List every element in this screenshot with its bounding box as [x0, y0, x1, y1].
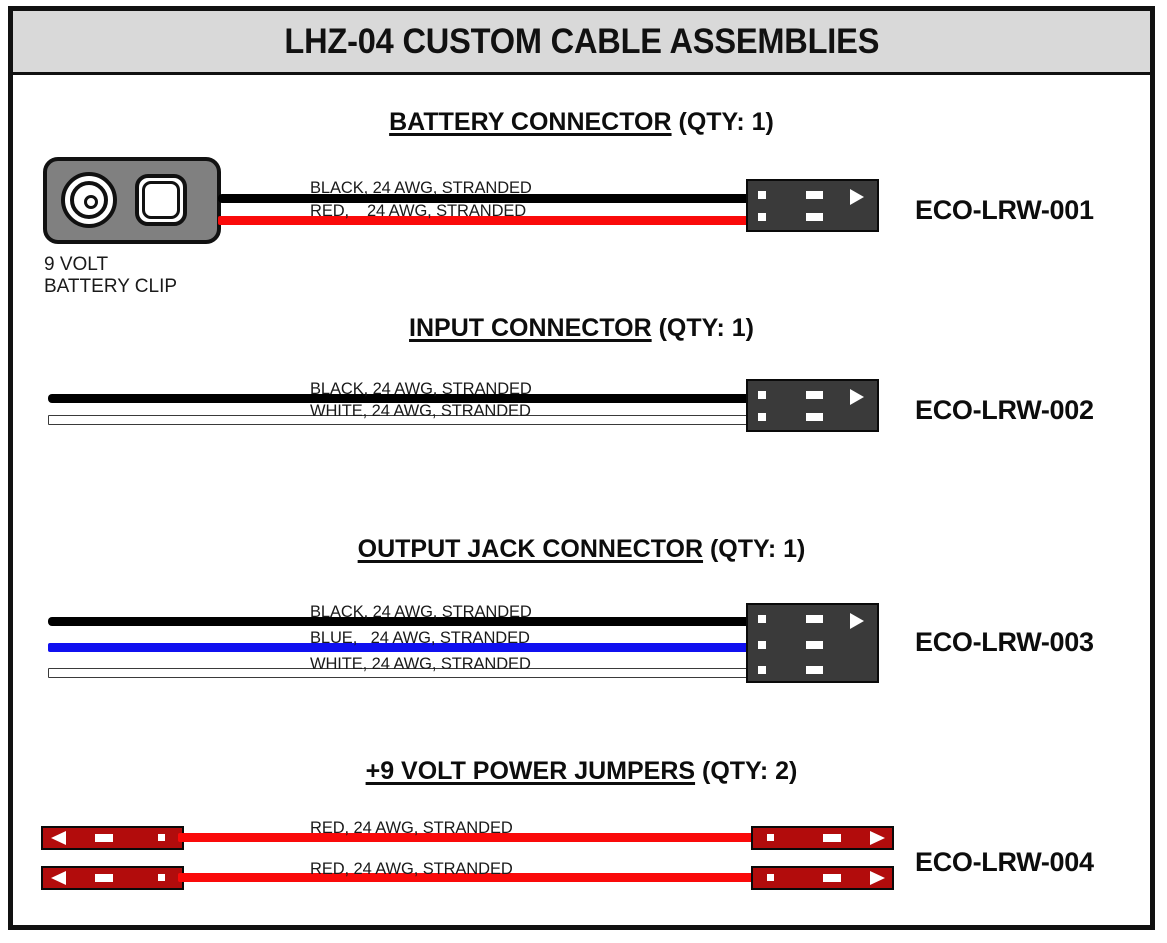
- jumper-connector-right: [751, 866, 894, 890]
- section-heading-power-jumpers: +9 VOLT POWER JUMPERS (QTY: 2): [13, 757, 1150, 786]
- connector-arrow-icon: [850, 613, 864, 629]
- drawing-sheet: LHZ-04 CUSTOM CABLE ASSEMBLIES BATTERY C…: [8, 6, 1155, 930]
- connector-pin: [758, 413, 766, 421]
- connector-pin: [758, 213, 766, 221]
- battery-clip-caption: 9 VOLTBATTERY CLIP: [44, 254, 177, 298]
- wire-label: BLACK, 24 AWG, STRANDED: [310, 380, 532, 399]
- section-name: INPUT CONNECTOR: [409, 314, 652, 342]
- section-name: +9 VOLT POWER JUMPERS: [366, 757, 695, 785]
- jumper-connector-left: [41, 866, 184, 890]
- connector-dash: [806, 413, 823, 421]
- connector-pin: [758, 191, 766, 199]
- jumper-dash: [95, 834, 113, 842]
- wire-label: RED, 24 AWG, STRANDED: [310, 819, 513, 838]
- connector-pin: [758, 391, 766, 399]
- wire-label: BLUE, 24 AWG, STRANDED: [310, 629, 530, 648]
- connector-pin: [758, 641, 766, 649]
- section-qty: (QTY: 1): [710, 535, 805, 563]
- jumper-pin: [767, 834, 774, 841]
- section-qty: (QTY: 1): [659, 314, 754, 342]
- wire-label: RED, 24 AWG, STRANDED: [310, 860, 513, 879]
- jumper-dash: [95, 874, 113, 882]
- connector-arrow-icon: [850, 389, 864, 405]
- jumper-connector-right: [751, 826, 894, 850]
- connector-dash: [806, 213, 823, 221]
- connector-arrow-icon: [850, 189, 864, 205]
- jumper-connector-left: [41, 826, 184, 850]
- jumper-arrow-right-icon: [870, 831, 885, 845]
- jumper-pin: [158, 874, 165, 881]
- part-number: ECO-LRW-004: [915, 847, 1094, 878]
- battery-snap-square-icon: [135, 174, 187, 226]
- section-qty: (QTY: 1): [679, 108, 774, 136]
- section-name: BATTERY CONNECTOR: [389, 108, 671, 136]
- connector-pin: [758, 615, 766, 623]
- wire-label: WHITE, 24 AWG, STRANDED: [310, 402, 531, 421]
- section-heading-output-jack-connector: OUTPUT JACK CONNECTOR (QTY: 1): [13, 535, 1150, 564]
- battery-clip-body: [43, 157, 221, 244]
- section-name: OUTPUT JACK CONNECTOR: [358, 535, 703, 563]
- connector-body-2pin: [746, 179, 879, 232]
- jumper-arrow-left-icon: [51, 871, 66, 885]
- wire-label: WHITE, 24 AWG, STRANDED: [310, 655, 531, 674]
- connector-dash: [806, 666, 823, 674]
- connector-body-3pin: [746, 603, 879, 683]
- jumper-arrow-right-icon: [870, 871, 885, 885]
- connector-dash: [806, 391, 823, 399]
- connector-dash: [806, 191, 823, 199]
- connector-pin: [758, 666, 766, 674]
- connector-body-2pin: [746, 379, 879, 432]
- title-band: LHZ-04 CUSTOM CABLE ASSEMBLIES: [13, 11, 1150, 75]
- wire-label: BLACK, 24 AWG, STRANDED: [310, 179, 532, 198]
- part-number: ECO-LRW-001: [915, 195, 1094, 226]
- jumper-dash: [823, 834, 841, 842]
- wire-label: BLACK, 24 AWG, STRANDED: [310, 603, 532, 622]
- battery-snap-round-icon: [61, 172, 117, 228]
- section-qty: (QTY: 2): [702, 757, 797, 785]
- jumper-arrow-left-icon: [51, 831, 66, 845]
- part-number: ECO-LRW-002: [915, 395, 1094, 426]
- connector-dash: [806, 641, 823, 649]
- jumper-dash: [823, 874, 841, 882]
- section-heading-input-connector: INPUT CONNECTOR (QTY: 1): [13, 314, 1150, 343]
- connector-dash: [806, 615, 823, 623]
- jumper-pin: [158, 834, 165, 841]
- section-heading-battery-connector: BATTERY CONNECTOR (QTY: 1): [13, 108, 1150, 137]
- wire-label: RED, 24 AWG, STRANDED: [310, 202, 526, 221]
- page-title: LHZ-04 CUSTOM CABLE ASSEMBLIES: [284, 22, 879, 62]
- jumper-pin: [767, 874, 774, 881]
- part-number: ECO-LRW-003: [915, 627, 1094, 658]
